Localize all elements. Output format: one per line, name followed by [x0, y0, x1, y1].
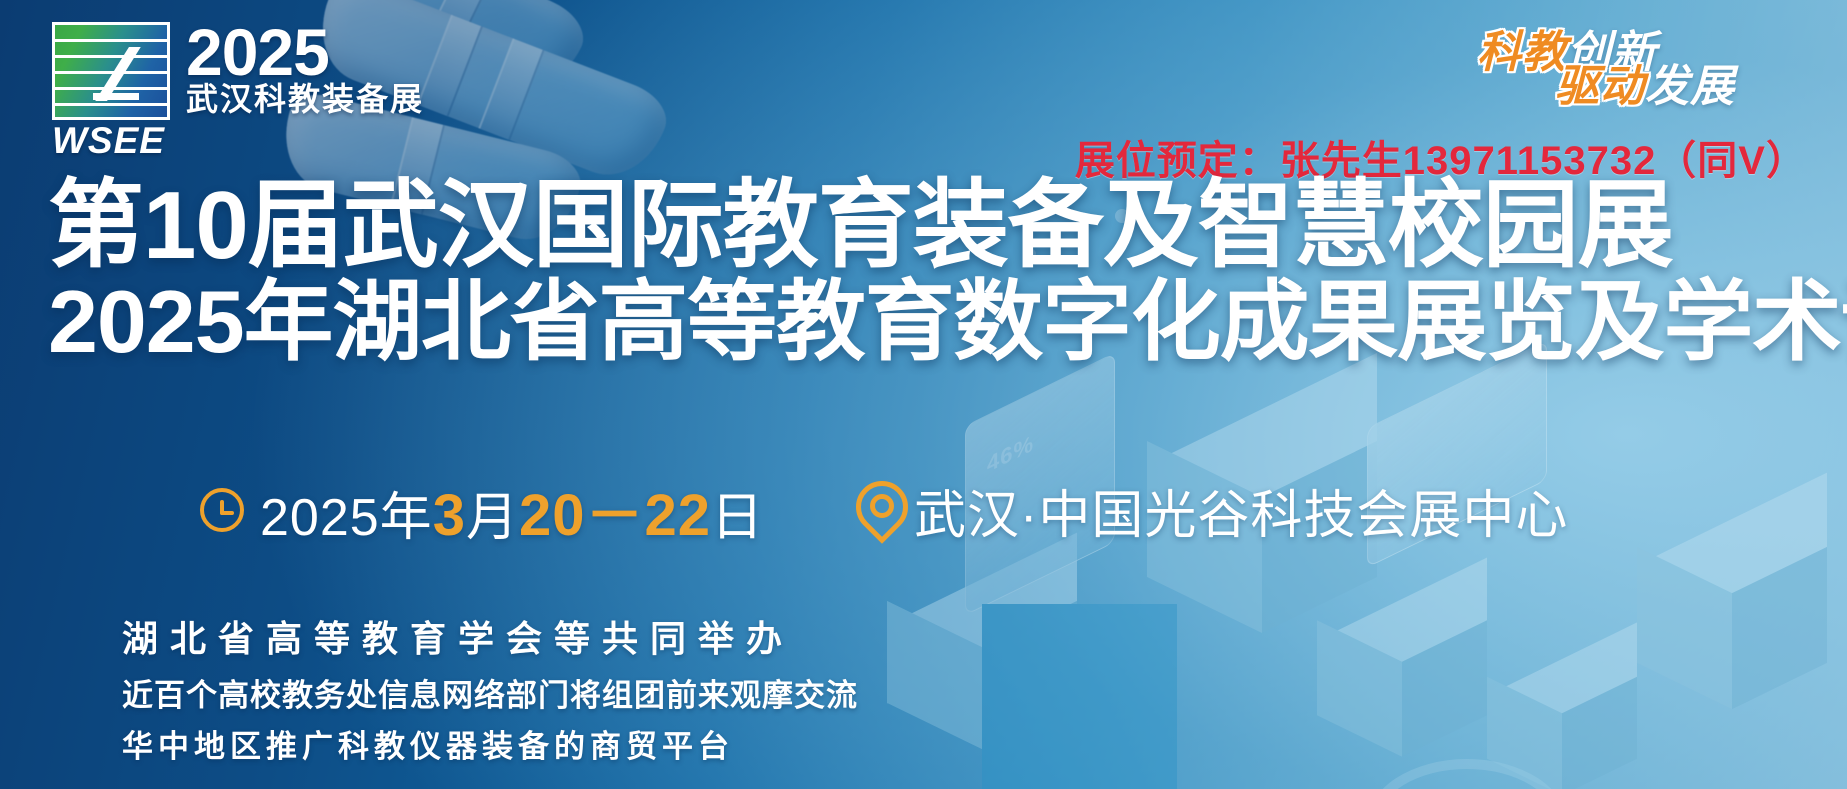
date-day-unit: 日: [711, 489, 764, 547]
clock-icon: [200, 488, 244, 532]
iso-cube: [1317, 599, 1487, 739]
slogan-block: 科教创新 驱动发展: [1477, 8, 1807, 118]
logo-subtitle: 武汉科教装备展: [186, 83, 424, 117]
wsee-logo-mark: [52, 22, 170, 120]
exhibition-banner: 46% WSEE 2025 武汉科教装备展 科: [0, 0, 1847, 789]
event-venue-text: 武汉·中国光谷科技会展中心: [914, 473, 1568, 548]
headline-line-1: 第10届武汉国际教育装备及智慧校园展: [48, 178, 1818, 274]
iso-cube: [1637, 519, 1827, 689]
isometric-tech-illustration: 46%: [847, 369, 1847, 789]
footnote-line-1: 湖北省高等教育学会等共同举办: [122, 610, 858, 662]
headline-block: 第10届武汉国际教育装备及智慧校园展 2025年湖北省高等教育数字化成果展览及学…: [48, 178, 1818, 368]
event-date: 2025年3月20－22日: [200, 468, 764, 552]
event-venue: 武汉·中国光谷科技会展中心: [856, 473, 1568, 548]
logo-year: 2025: [186, 22, 424, 83]
iso-solid-block: [982, 604, 1177, 789]
wsee-logo-slash-icon: [89, 47, 147, 101]
footnote-line-3: 华中地区推广科教仪器装备的商贸平台: [122, 721, 858, 766]
iso-cube: [1487, 659, 1637, 779]
info-row: 2025年3月20－22日 武汉·中国光谷科技会展中心: [200, 468, 1568, 552]
wsee-logo: WSEE 2025 武汉科教装备展: [52, 22, 424, 159]
headline-line-2: 2025年湖北省高等教育数字化成果展览及学术论坛: [48, 276, 1847, 368]
slogan-part-4: 发展: [1645, 62, 1735, 111]
iso-cube: [887, 579, 1077, 729]
footnotes-block: 湖北省高等教育学会等共同举办 近百个高校教务处信息网络部门将组团前来观摩交流 华…: [122, 610, 858, 766]
iso-ring: [1367, 759, 1567, 789]
date-month-unit: 月: [466, 489, 519, 547]
event-date-text: 2025年3月20－22日: [260, 468, 764, 552]
footnote-line-2: 近百个高校教务处信息网络部门将组团前来观摩交流: [122, 670, 858, 715]
date-day-range: 20－22: [519, 483, 711, 548]
date-month-num: 3: [433, 483, 466, 548]
slogan-part-3: 驱动: [1555, 62, 1645, 111]
wsee-wordmark: WSEE: [52, 122, 170, 159]
slogan-part-1: 科教: [1477, 28, 1567, 77]
date-year: 2025年: [260, 489, 433, 547]
slogan-line-2: 驱动发展: [1555, 50, 1735, 114]
map-pin-icon: [856, 481, 898, 539]
